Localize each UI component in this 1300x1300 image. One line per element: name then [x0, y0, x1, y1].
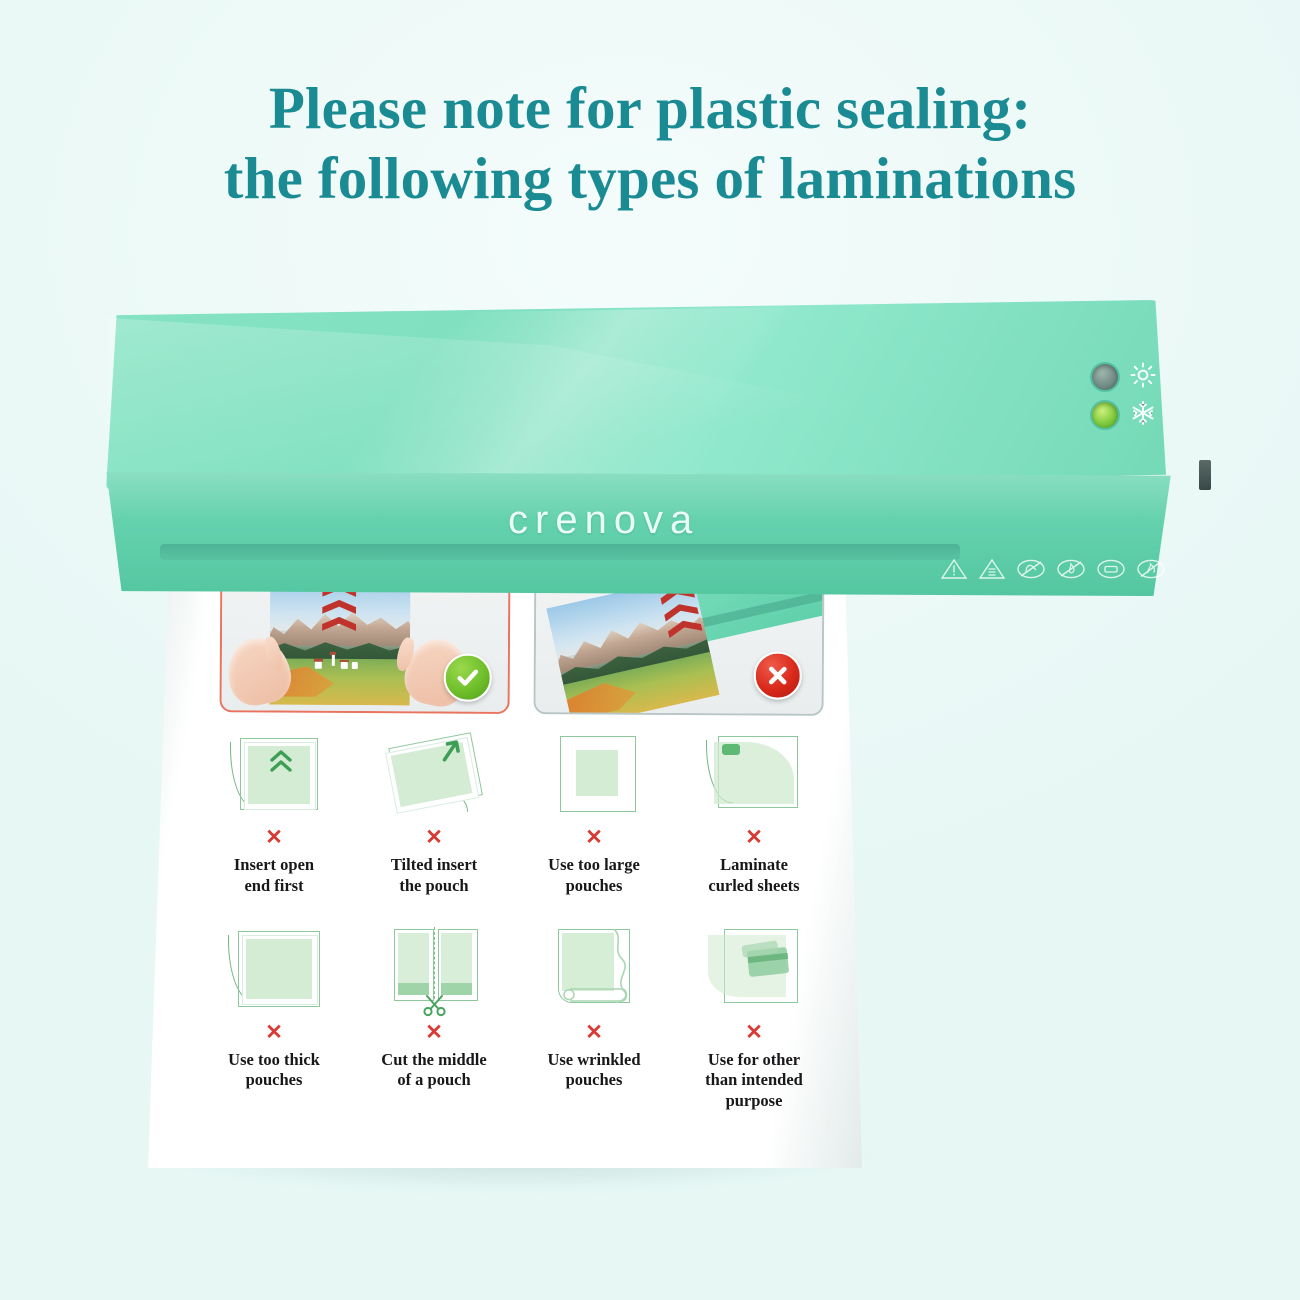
pouch-wrinkled-icon	[538, 925, 650, 1015]
x-mark: ✕	[745, 827, 763, 848]
pouch-half-right-band	[441, 983, 472, 995]
pouch-too-large-icon	[538, 730, 650, 820]
warning-label-line: than intended	[705, 1070, 803, 1091]
photo-house	[315, 661, 322, 669]
pouch-too-thick-icon	[218, 925, 330, 1015]
pouch-tilted-arrow-icon	[378, 730, 490, 820]
warning-label-line: pouches	[547, 1070, 640, 1091]
warning-label: Use for other than intended purpose	[705, 1050, 803, 1112]
photo-church-spire	[331, 654, 334, 665]
pouch-half-left-band	[398, 983, 429, 995]
x-mark: ✕	[425, 827, 443, 848]
power-switch[interactable]	[1199, 460, 1211, 490]
x-mark: ✕	[745, 1022, 763, 1043]
pouch-fill	[576, 750, 618, 796]
warning-label: Use too large pouches	[548, 855, 640, 897]
warning-label-line: of a pouch	[381, 1070, 486, 1091]
warning-item-use-too-thick-pouches: ✕ Use too thick pouches	[194, 925, 354, 1112]
pouch-tilted-group	[380, 728, 489, 821]
warning-label-line: Cut the middle	[381, 1050, 486, 1071]
warning-label-line: Tilted insert	[391, 855, 477, 876]
x-mark: ✕	[425, 1022, 443, 1043]
chevron-icon	[322, 617, 356, 631]
machine-feed-slot	[160, 544, 960, 560]
indicator-light-hot[interactable]	[1090, 362, 1120, 392]
warning-item-tilted-insert-the-pouch: ✕ Tilted insert the pouch	[354, 730, 514, 897]
warning-row-2: ✕ Use too thick pouches	[194, 925, 834, 1112]
warning-label: Tilted insert the pouch	[391, 855, 477, 897]
warning-label-line: Use for other	[705, 1050, 803, 1071]
warning-triangle-icon	[940, 558, 968, 580]
photo-roof	[340, 660, 349, 662]
warning-label-line: Use too large	[548, 855, 640, 876]
indicator-lights	[1090, 362, 1200, 432]
brand-logo: crenova	[508, 498, 699, 543]
warning-item-insert-open-end-first: ✕ Insert open end first	[194, 730, 354, 897]
status-badge-incorrect	[754, 651, 802, 699]
warning-item-use-for-other-than-intended-purpose: ✕ Use for other than intended purpose	[674, 925, 834, 1112]
no-flammable-icon	[1136, 558, 1166, 580]
machine-top-gloss	[106, 302, 1166, 490]
x-mark: ✕	[585, 1022, 603, 1043]
warning-label: Insert open end first	[234, 855, 314, 897]
instruction-sheet: crenova	[148, 540, 862, 1168]
indicator-light-cold[interactable]	[1090, 400, 1120, 430]
warning-label: Laminate curled sheets	[708, 855, 799, 897]
photo-house	[340, 662, 348, 670]
chevron-icon	[666, 617, 702, 638]
photo-spire-roof	[330, 652, 336, 655]
warning-item-laminate-curled-sheets: ✕ Laminate curled sheets	[674, 730, 834, 897]
x-mark: ✕	[585, 827, 603, 848]
warning-label-line: purpose	[705, 1091, 803, 1112]
page-title: Please note for plastic sealing: the fol…	[0, 74, 1300, 213]
warning-label-line: Insert open	[234, 855, 314, 876]
warning-item-use-wrinkled-pouches: ✕ Use wrinkled pouches	[514, 925, 674, 1112]
warning-grid: ✕ Insert open end first	[194, 730, 834, 1112]
laminator-machine: crenova	[100, 300, 1205, 610]
cut-dashed-line	[434, 927, 435, 999]
no-metal-icon	[1096, 558, 1126, 580]
x-mark: ✕	[265, 827, 283, 848]
arrow-diagonal-icon	[436, 736, 466, 766]
warning-row-1: ✕ Insert open end first	[194, 730, 834, 897]
safety-icon-row	[940, 558, 1166, 580]
curl-lip	[722, 744, 740, 755]
pouch-curled-sheet-icon	[698, 730, 810, 820]
warning-hot-surface-icon	[978, 558, 1006, 580]
photo-village	[309, 654, 365, 672]
warning-item-use-too-large-pouches: ✕ Use too large pouches	[514, 730, 674, 897]
warning-label: Use wrinkled pouches	[547, 1050, 640, 1092]
title-line-1: Please note for plastic sealing:	[0, 74, 1300, 144]
warning-label-line: end first	[234, 876, 314, 897]
status-badge-correct	[444, 654, 492, 702]
warning-label: Use too thick pouches	[228, 1050, 320, 1092]
warning-label-line: the pouch	[391, 876, 477, 897]
pouch-fill	[246, 939, 312, 999]
no-liquid-icon	[1056, 558, 1086, 580]
chevron-up-icon	[270, 748, 292, 774]
snowflake-icon	[1130, 400, 1156, 426]
warning-label: Cut the middle of a pouch	[381, 1050, 486, 1092]
warning-label-line: curled sheets	[708, 876, 799, 897]
warning-item-cut-the-middle-of-a-pouch: ✕ Cut the middle of a pouch	[354, 925, 514, 1112]
pouch-credit-card-icon	[698, 925, 810, 1015]
scissors-icon	[422, 995, 448, 1017]
pouch-cut-scissors-icon	[378, 925, 490, 1015]
warning-label-line: Laminate	[708, 855, 799, 876]
sun-icon	[1130, 362, 1156, 388]
x-mark: ✕	[265, 1022, 283, 1043]
no-hand-insert-icon	[1016, 558, 1046, 580]
warning-label-line: Use wrinkled	[547, 1050, 640, 1071]
warning-label-line: Use too thick	[228, 1050, 320, 1071]
warning-label-line: pouches	[548, 876, 640, 897]
title-line-2: the following types of laminations	[0, 144, 1300, 214]
check-icon	[455, 665, 481, 691]
photo-roof	[314, 659, 322, 662]
photo-house	[352, 662, 358, 668]
infographic-canvas: Please note for plastic sealing: the fol…	[0, 0, 1300, 1300]
pouch-open-end-chevrons-icon	[218, 730, 330, 820]
cross-icon	[765, 662, 791, 688]
warning-label-line: pouches	[228, 1070, 320, 1091]
wrinkle-roll	[560, 981, 628, 1003]
